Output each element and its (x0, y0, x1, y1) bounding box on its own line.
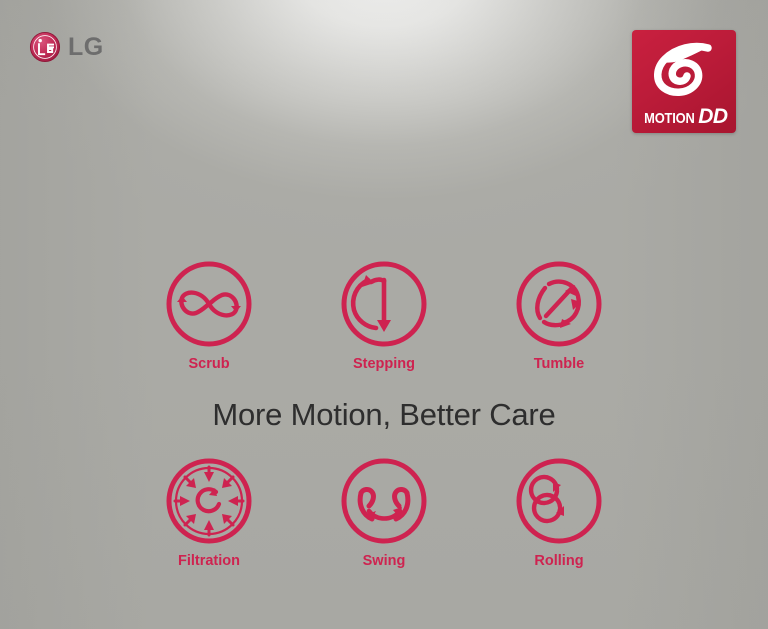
pendulum-swing-arrows-icon (338, 455, 430, 547)
twin-circles-arrows-icon (513, 455, 605, 547)
feature-swing[interactable]: Swing (328, 455, 440, 569)
feature-scrub[interactable]: Scrub (153, 258, 265, 372)
feature-tumble[interactable]: Tumble (503, 258, 615, 372)
badge-dd-text: DD (698, 106, 727, 127)
feature-label: Stepping (353, 357, 415, 372)
lg-circle-face-icon (29, 31, 61, 63)
badge-text-row: MOTIONDD (632, 106, 736, 127)
feature-label: Filtration (178, 554, 240, 569)
feature-rolling[interactable]: Rolling (503, 455, 615, 569)
lg-wordmark: LG (68, 35, 104, 60)
six-swoosh-icon (632, 32, 736, 106)
radial-inward-arrows-icon (163, 455, 255, 547)
lg-logo: LG (29, 31, 104, 63)
promo-banner: LG MOTIONDD Scrub (0, 0, 768, 629)
feature-row-top: Scrub Stepping (0, 258, 768, 372)
feature-label: Rolling (534, 554, 583, 569)
feature-label: Tumble (534, 357, 584, 372)
feature-stepping[interactable]: Stepping (328, 258, 440, 372)
headline: More Motion, Better Care (0, 396, 768, 433)
tumble-loop-arrows-icon (513, 258, 605, 350)
circular-down-arrow-icon (338, 258, 430, 350)
six-motion-dd-badge: MOTIONDD (632, 30, 736, 133)
feature-label: Swing (363, 554, 406, 569)
badge-motion-text: MOTION (645, 111, 696, 126)
infinity-arrows-icon (163, 258, 255, 350)
feature-filtration[interactable]: Filtration (153, 455, 265, 569)
feature-row-bottom: Filtration Swing (0, 455, 768, 569)
feature-label: Scrub (188, 357, 229, 372)
